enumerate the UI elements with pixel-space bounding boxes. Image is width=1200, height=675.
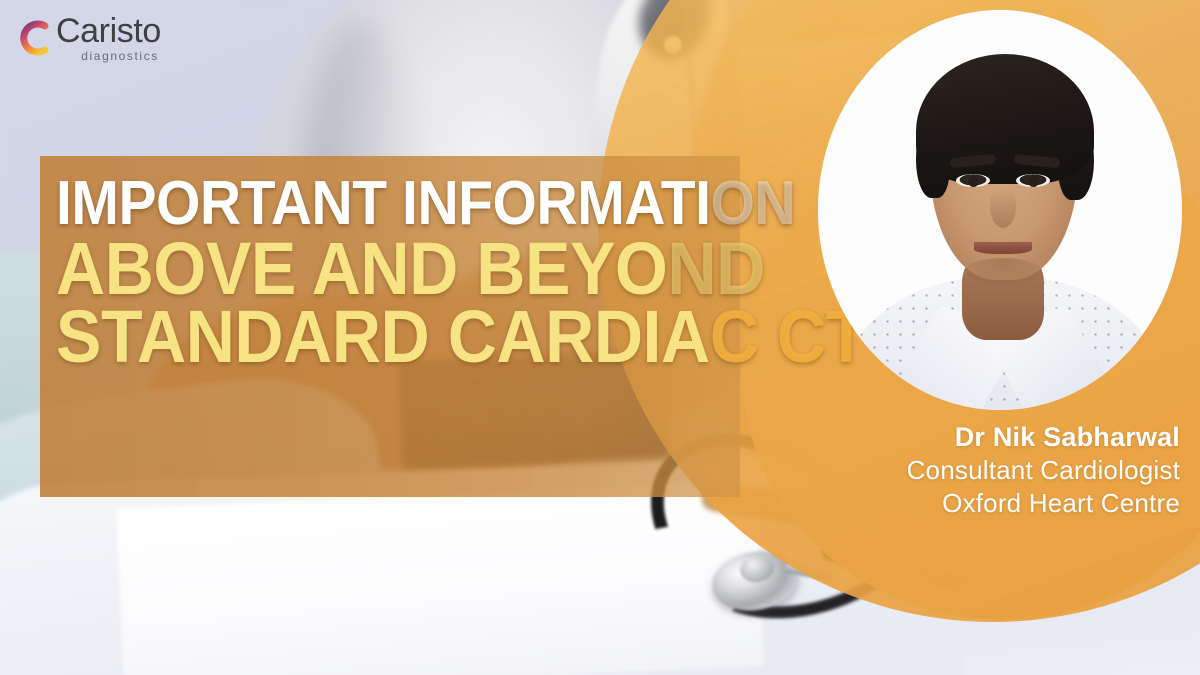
video-thumbnail-slide: IMPORTANT INFORMATION ABOVE AND BEYOND S… <box>0 0 1200 675</box>
speaker-name: Dr Nik Sabharwal <box>907 420 1180 454</box>
avatar <box>818 10 1182 410</box>
avatar-nose <box>990 186 1016 228</box>
speaker-organisation: Oxford Heart Centre <box>907 487 1180 520</box>
speaker-credit: Dr Nik Sabharwal Consultant Cardiologist… <box>907 420 1180 520</box>
brand-logo: Caristo diagnostics <box>14 14 161 62</box>
avatar-pupil-right <box>1028 176 1039 187</box>
caristo-arc-icon <box>14 18 54 58</box>
speaker-role: Consultant Cardiologist <box>907 454 1180 487</box>
brand-name: Caristo <box>56 14 161 48</box>
avatar-chin <box>964 258 1042 284</box>
brand-tagline: diagnostics <box>56 50 159 62</box>
avatar-mouth <box>974 242 1032 254</box>
brand-logo-text: Caristo diagnostics <box>56 14 161 62</box>
avatar-pupil-left <box>968 176 979 187</box>
headline-line-3-lead: STANDARD CARDIA <box>56 295 710 378</box>
